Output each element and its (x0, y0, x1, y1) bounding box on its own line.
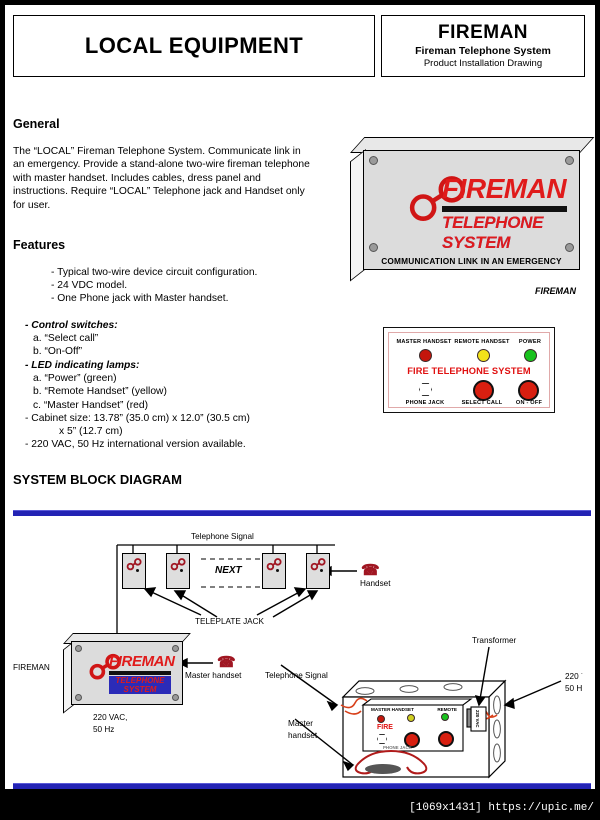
next-label: NEXT (215, 565, 242, 576)
system-name: Fireman Telephone System (415, 45, 551, 57)
jack-dot (136, 569, 139, 572)
transformer-label: Transformer (472, 636, 516, 645)
jack-dot (276, 569, 279, 572)
screw-icon (75, 645, 82, 652)
power-label-line1: 220 ˙ (565, 672, 584, 681)
led-power (524, 349, 537, 362)
jack-dot (320, 569, 323, 572)
teleplate-jack: ☍ (166, 553, 190, 589)
handset-icon: ☍ (170, 558, 186, 574)
led-power (441, 713, 449, 721)
divider-top (13, 510, 591, 516)
sheet: LOCAL EQUIPMENT FIREMAN Fireman Telephon… (4, 4, 596, 790)
panel-bottom-label: SELECT CALL (453, 400, 511, 406)
on-off-button (438, 731, 454, 747)
teleplate-jack: ☍ (262, 553, 286, 589)
feature-bullet: - 24 VDC model. (51, 279, 257, 292)
teleplate-jack: ☍ (122, 553, 146, 589)
led-remote-handset (407, 714, 415, 722)
general-body: The “LOCAL” Fireman Telephone System. Co… (13, 145, 313, 212)
logo-divider (442, 206, 567, 212)
panel-bottom-label: PHONE JACK (396, 400, 454, 406)
cabinet-front-face: ☍ FIREMAN TELEPHONE SYSTEM COMMUNICATION… (363, 150, 580, 270)
general-heading: General (13, 117, 60, 131)
title-block-left: LOCAL EQUIPMENT (13, 15, 375, 77)
cabinet-front-face: ☍ FIREMAN TELEPHONE SYSTEM (71, 641, 183, 705)
cabinet-caption: FIREMAN (535, 286, 576, 296)
led-master-handset (419, 349, 432, 362)
master-handset-label-line1: Master (288, 719, 313, 728)
exploded-panel-title: FIRE (377, 724, 393, 731)
select-call-button[interactable] (473, 380, 494, 401)
drawing-page: LOCAL EQUIPMENT FIREMAN Fireman Telephon… (0, 0, 600, 820)
title-block-right: FIREMAN Fireman Telephone System Product… (381, 15, 585, 77)
product-cabinet-illustration: ☍ FIREMAN TELEPHONE SYSTEM COMMUNICATION… (350, 137, 588, 282)
handset-icon: ☍ (266, 558, 282, 574)
feature-bullet: - Typical two-wire device circuit config… (51, 266, 257, 279)
panel-bottom-label: ON - OFF (508, 400, 550, 406)
features-heading: Features (13, 238, 65, 252)
power-label-line2: 50 H (565, 684, 582, 693)
screw-icon (172, 694, 179, 701)
teleplate-jack-label: TELEPLATE JACK (195, 617, 264, 626)
handset-icon: ☍ (126, 558, 142, 574)
screw-icon (172, 645, 179, 652)
cabinet-logo-brand: FIREMAN (442, 173, 566, 205)
led-lamps-label: - LED indicating lamps: (25, 359, 250, 372)
led-master-handset (377, 715, 385, 723)
teleplate-jack: ☍ (306, 553, 330, 589)
jack-dot (180, 569, 183, 572)
master-handset-label-line2: handset (288, 731, 317, 740)
diagram-cabinet: ☍ FIREMAN TELEPHONE SYSTEM (63, 633, 188, 711)
document-subtitle: Product Installation Drawing (424, 58, 542, 69)
control-switches-group: - Control switches: a. “Select call” b. … (25, 319, 118, 359)
logo-divider (109, 671, 171, 675)
screw-icon (75, 694, 82, 701)
led-lamps-group: - LED indicating lamps: a. “Power” (gree… (25, 359, 250, 451)
screw-icon (565, 156, 574, 165)
cabinet-size-line: x 5” (12.7 cm) (25, 425, 250, 438)
power-label-line2: 50 Hz (93, 725, 114, 734)
handset-icon: ☍ (310, 558, 326, 574)
features-bullets: - Typical two-wire device circuit config… (51, 266, 257, 306)
cabinet-size-line: - Cabinet size: 13.78” (35.0 cm) x 12.0”… (25, 412, 250, 425)
master-handset-label: Master handset (185, 671, 241, 680)
cabinet-tagline: COMMUNICATION LINK IN AN EMERGENCY (364, 256, 579, 266)
panel-led-label: REMOTE (437, 707, 457, 712)
cabinet-logo-brand: FIREMAN (109, 653, 175, 670)
on-off-button[interactable] (518, 380, 539, 401)
feature-bullet: - One Phone jack with Master handset. (51, 292, 257, 305)
led-remote-handset (477, 349, 490, 362)
handset-icon: ☎ (361, 561, 380, 579)
exploded-panel-labels: MASTER HANDSET REMOTE (371, 707, 457, 712)
voltage-note: - 220 VAC, 50 Hz international version a… (25, 438, 250, 451)
telephone-signal-label: Telephone Signal (265, 671, 328, 680)
cabinet-logo-system: TELEPHONE SYSTEM (109, 676, 171, 694)
divider-bottom (13, 783, 591, 789)
control-panel-illustration: MASTER HANDSET REMOTE HANDSET POWER FIRE… (383, 327, 555, 413)
panel-led-label: REMOTE HANDSET (450, 339, 514, 345)
led-item: c. “Master Handset” (red) (25, 399, 250, 412)
transformer-body-label: 220 VAC (475, 710, 480, 728)
diagram-cabinet-side-label: FIREMAN (13, 663, 50, 672)
control-switches-label: - Control switches: (25, 319, 118, 332)
handset-label: Handset (360, 579, 391, 588)
led-item: b. “Remote Handset” (yellow) (25, 385, 250, 398)
brand-name: FIREMAN (438, 23, 528, 43)
footer-watermark: [1069x1431] https://upic.me/ (409, 802, 594, 814)
panel-title: FIRE TELEPHONE SYSTEM (384, 366, 554, 376)
cabinet-logo-system: TELEPHONE SYSTEM (442, 213, 579, 253)
panel-led-label: MASTER HANDSET (371, 707, 414, 712)
telephone-signal-label: Telephone Signal (191, 532, 254, 541)
power-label-line1: 220 VAC, (93, 713, 127, 722)
panel-led-label: POWER (512, 339, 548, 345)
exploded-panel-bottom-label: PHONE JACK (383, 745, 412, 750)
title-block: LOCAL EQUIPMENT FIREMAN Fireman Telephon… (13, 15, 585, 77)
phone-jack-icon (377, 734, 387, 744)
screw-icon (369, 156, 378, 165)
block-diagram-heading: SYSTEM BLOCK DIAGRAM (13, 472, 182, 487)
control-switch-item: a. “Select call” (25, 332, 118, 345)
handset-icon: ☎ (217, 653, 236, 671)
control-switch-item: b. “On-Off” (25, 345, 118, 358)
panel-led-label: MASTER HANDSET (392, 339, 456, 345)
screw-icon (369, 243, 378, 252)
led-item: a. “Power” (green) (25, 372, 250, 385)
page-title: LOCAL EQUIPMENT (85, 33, 303, 59)
